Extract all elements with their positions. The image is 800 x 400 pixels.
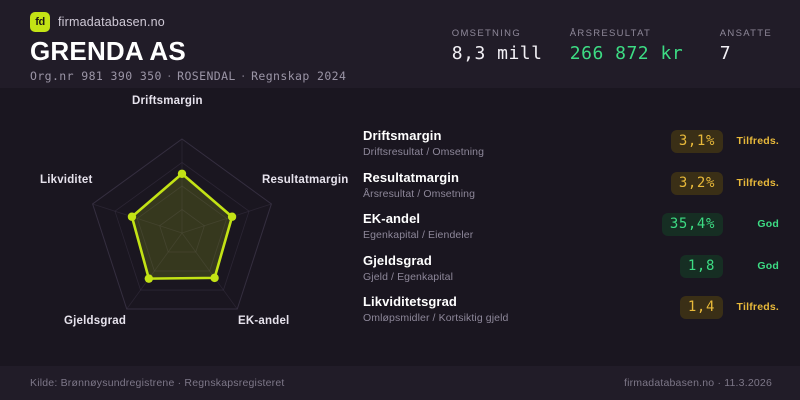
page-title: GRENDA AS bbox=[30, 36, 346, 66]
metric-row-driftsmargin[interactable]: Driftsmargin Driftsresultat / Omsetning … bbox=[363, 128, 783, 170]
radar-point bbox=[228, 213, 236, 221]
metric-rating: God bbox=[757, 218, 779, 230]
meta-separator-2: · bbox=[236, 69, 251, 83]
metric-row-likviditetsgrad[interactable]: Likviditetsgrad Omløpsmidler / Kortsikti… bbox=[363, 294, 783, 336]
company-period: Regnskap 2024 bbox=[251, 69, 346, 83]
metric-row-ek-andel[interactable]: EK-andel Egenkapital / Eiendeler 35,4% G… bbox=[363, 211, 783, 253]
radar-point bbox=[210, 274, 218, 282]
radar-chart: Driftsmargin Resultatmargin EK-andel Gje… bbox=[0, 88, 350, 358]
metric-rating: God bbox=[757, 260, 779, 272]
radar-point bbox=[128, 213, 136, 221]
metric-row-resultatmargin[interactable]: Resultatmargin Årsresultat / Omsetning 3… bbox=[363, 170, 783, 212]
stat-omsetning-label: OMSETNING bbox=[452, 28, 570, 39]
radar-point bbox=[145, 274, 153, 282]
radar-axis-label-driftsmargin: Driftsmargin bbox=[132, 95, 203, 107]
company-place: ROSENDAL bbox=[177, 69, 236, 83]
footer-source: Kilde: Brønnøysundregistrene · Regnskaps… bbox=[30, 377, 285, 389]
radar-point bbox=[178, 170, 186, 178]
footer: Kilde: Brønnøysundregistrene · Regnskaps… bbox=[0, 366, 800, 400]
metric-rating: Tilfreds. bbox=[737, 177, 779, 189]
header: fd firmadatabasen.no GRENDA AS Org.nr 98… bbox=[0, 0, 800, 88]
stat-ansatte-value: 7 bbox=[720, 44, 772, 64]
radar-axis-label-resultatmargin: Resultatmargin bbox=[262, 174, 349, 186]
radar-axis-label-likviditet: Likviditet bbox=[40, 174, 92, 186]
radar-data-area bbox=[132, 174, 232, 279]
firmadatabasen-logo-icon: fd bbox=[30, 12, 50, 32]
footer-attribution: firmadatabasen.no · 11.3.2026 bbox=[624, 377, 772, 389]
metric-value-badge: 3,2% bbox=[671, 172, 723, 195]
metric-rating: Tilfreds. bbox=[737, 135, 779, 147]
metric-value-badge: 3,1% bbox=[671, 130, 723, 153]
stat-omsetning: OMSETNING 8,3 mill bbox=[452, 28, 570, 64]
stat-omsetning-value: 8,3 mill bbox=[452, 44, 570, 64]
stat-ansatte-label: ANSATTE bbox=[720, 28, 772, 39]
radar-chart-svg bbox=[0, 88, 350, 358]
company-orgnr: Org.nr 981 390 350 bbox=[30, 69, 162, 83]
metrics-list: Driftsmargin Driftsresultat / Omsetning … bbox=[363, 128, 783, 336]
radar-axis-label-gjeldsgrad: Gjeldsgrad bbox=[64, 315, 126, 327]
metric-value-badge: 1,8 bbox=[680, 255, 723, 278]
header-identity: fd firmadatabasen.no GRENDA AS Org.nr 98… bbox=[30, 12, 346, 83]
radar-axis-label-ek-andel: EK-andel bbox=[238, 315, 289, 327]
stat-arsresultat: ÅRSRESULTAT 266 872 kr bbox=[570, 28, 720, 64]
metric-value-badge: 1,4 bbox=[680, 296, 723, 319]
brand-name: firmadatabasen.no bbox=[58, 15, 165, 29]
company-key-figures-card: fd firmadatabasen.no GRENDA AS Org.nr 98… bbox=[0, 0, 800, 400]
company-meta: Org.nr 981 390 350·ROSENDAL·Regnskap 202… bbox=[30, 69, 346, 83]
stat-arsresultat-label: ÅRSRESULTAT bbox=[570, 28, 720, 39]
stat-arsresultat-value: 266 872 kr bbox=[570, 44, 720, 64]
metric-rating: Tilfreds. bbox=[737, 301, 779, 313]
brand-row[interactable]: fd firmadatabasen.no bbox=[30, 12, 346, 32]
header-stats: OMSETNING 8,3 mill ÅRSRESULTAT 266 872 k… bbox=[452, 28, 772, 64]
stat-ansatte: ANSATTE 7 bbox=[720, 28, 772, 64]
meta-separator-1: · bbox=[162, 69, 177, 83]
metric-row-gjeldsgrad[interactable]: Gjeldsgrad Gjeld / Egenkapital 1,8 God bbox=[363, 253, 783, 295]
metric-value-badge: 35,4% bbox=[662, 213, 723, 236]
